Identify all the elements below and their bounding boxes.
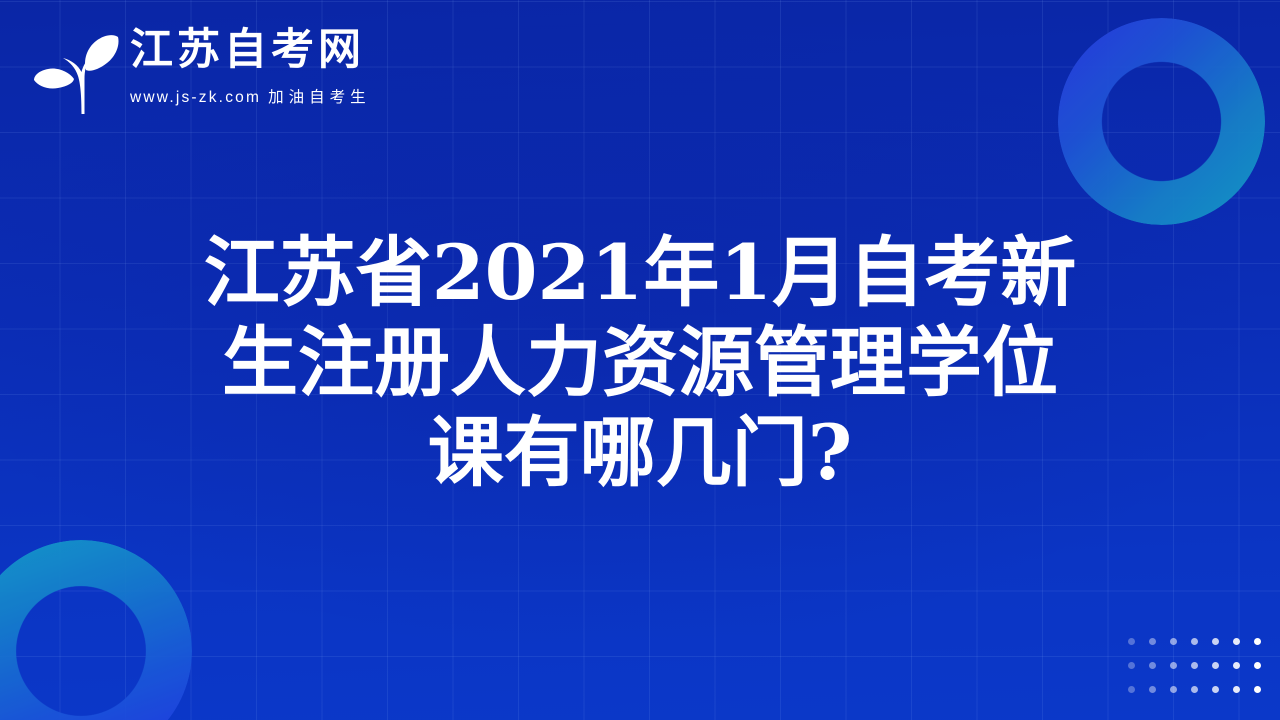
sprout-icon xyxy=(34,26,120,118)
decorative-dot xyxy=(1170,686,1177,693)
decorative-dot xyxy=(1149,686,1156,693)
site-logo: 江苏自考网 www.js-zk.com加油自考生 xyxy=(34,24,371,118)
decorative-dot xyxy=(1212,662,1219,669)
decorative-ring-top-right xyxy=(1058,18,1265,225)
page-title-line-3: 课有哪几门? xyxy=(100,408,1180,498)
decorative-dot xyxy=(1128,638,1135,645)
logo-tagline-slogan: 加油自考生 xyxy=(268,89,371,106)
decorative-dot xyxy=(1254,662,1261,669)
logo-tagline: www.js-zk.com加油自考生 xyxy=(130,85,371,107)
decorative-dot xyxy=(1170,662,1177,669)
page-title-line-1: 江苏省2021年1月自考新 xyxy=(100,228,1180,318)
decorative-dot xyxy=(1191,638,1198,645)
decorative-dot xyxy=(1170,638,1177,645)
decorative-dot xyxy=(1128,662,1135,669)
logo-text-block: 江苏自考网 www.js-zk.com加油自考生 xyxy=(130,24,371,107)
decorative-dot-grid xyxy=(1128,638,1275,710)
decorative-dot xyxy=(1128,686,1135,693)
decorative-dot xyxy=(1254,638,1261,645)
poster-canvas: 江苏自考网 www.js-zk.com加油自考生 江苏省2021年1月自考新 生… xyxy=(0,0,1280,720)
page-title: 江苏省2021年1月自考新 生注册人力资源管理学位 课有哪几门? xyxy=(0,228,1280,498)
decorative-dot xyxy=(1233,686,1240,693)
decorative-ring-bottom-left xyxy=(0,540,192,720)
decorative-dot xyxy=(1212,638,1219,645)
decorative-dot xyxy=(1149,638,1156,645)
decorative-dot xyxy=(1233,638,1240,645)
decorative-dot xyxy=(1233,662,1240,669)
logo-name: 江苏自考网 xyxy=(130,28,371,73)
page-title-line-2: 生注册人力资源管理学位 xyxy=(100,318,1180,408)
decorative-dot xyxy=(1191,686,1198,693)
decorative-dot xyxy=(1191,662,1198,669)
decorative-dot xyxy=(1254,686,1261,693)
decorative-dot xyxy=(1149,662,1156,669)
logo-tagline-url: www.js-zk.com xyxy=(130,89,261,106)
decorative-dot xyxy=(1212,686,1219,693)
